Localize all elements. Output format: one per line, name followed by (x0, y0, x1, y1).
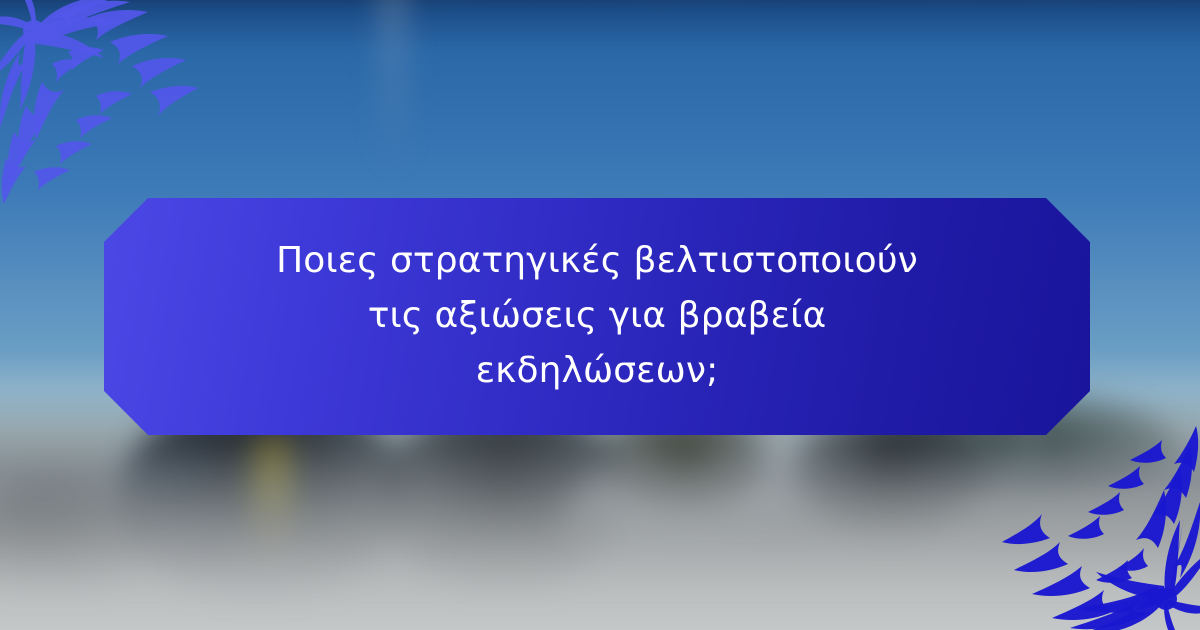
title-banner: Ποιες στρατηγικές βελτιστοποιούν τις αξι… (104, 198, 1090, 435)
page-title: Ποιες στρατηγικές βελτιστοποιούν τις αξι… (247, 234, 947, 398)
social-share-card: Ποιες στρατηγικές βελτιστοποιούν τις αξι… (0, 0, 1200, 630)
background-track (0, 430, 1200, 630)
background-mast-shape (380, 0, 406, 170)
